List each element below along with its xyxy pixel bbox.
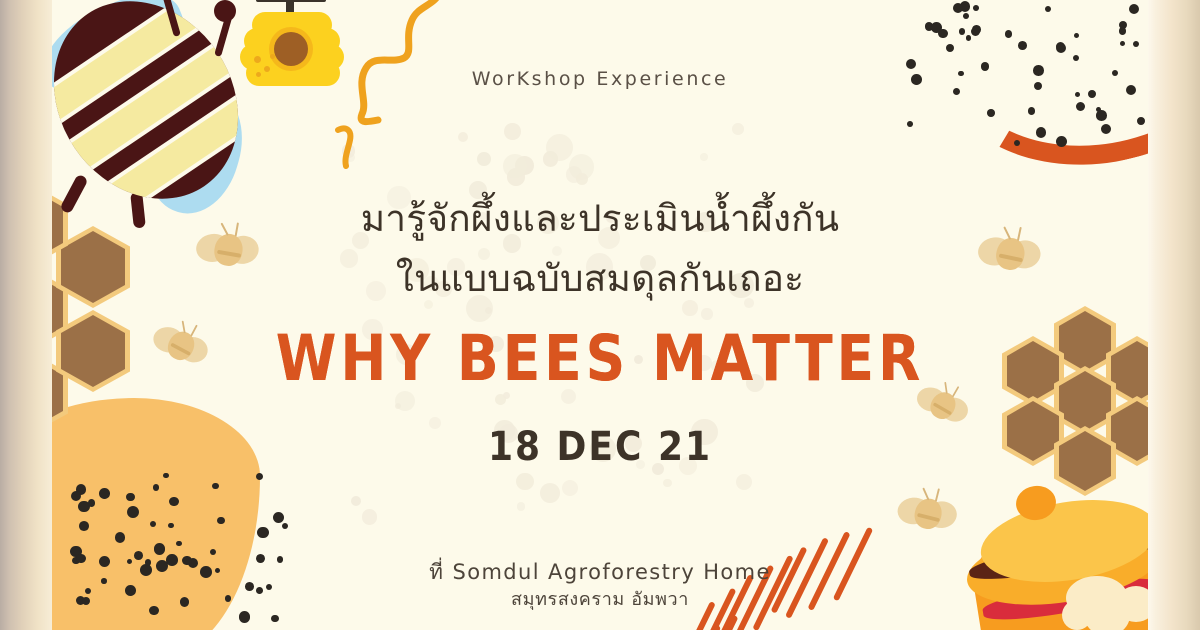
bee-antenna-tip — [214, 0, 236, 22]
poster-canvas: WorKshop Experience มารู้จักผึ้งและประเม… — [0, 0, 1200, 630]
hive-speck — [270, 54, 275, 59]
hive-entrance — [274, 32, 308, 66]
event-date: 18 DEC 21 — [0, 424, 1200, 470]
hive-speck — [254, 56, 261, 63]
page-title: WHY BEES MATTER — [18, 322, 1182, 395]
poster-artboard — [0, 0, 1200, 630]
venue-location: สมุทรสงคราม อัมพวา — [0, 584, 1200, 613]
kicker-text: WorKshop Experience — [0, 68, 1200, 90]
headline-thai-line-2: ในแบบฉบับสมดุลกันเถอะ — [0, 256, 1200, 303]
headline-thai-line-1: มารู้จักผึ้งและประเมินน้ำผึ้งกัน — [0, 196, 1200, 243]
